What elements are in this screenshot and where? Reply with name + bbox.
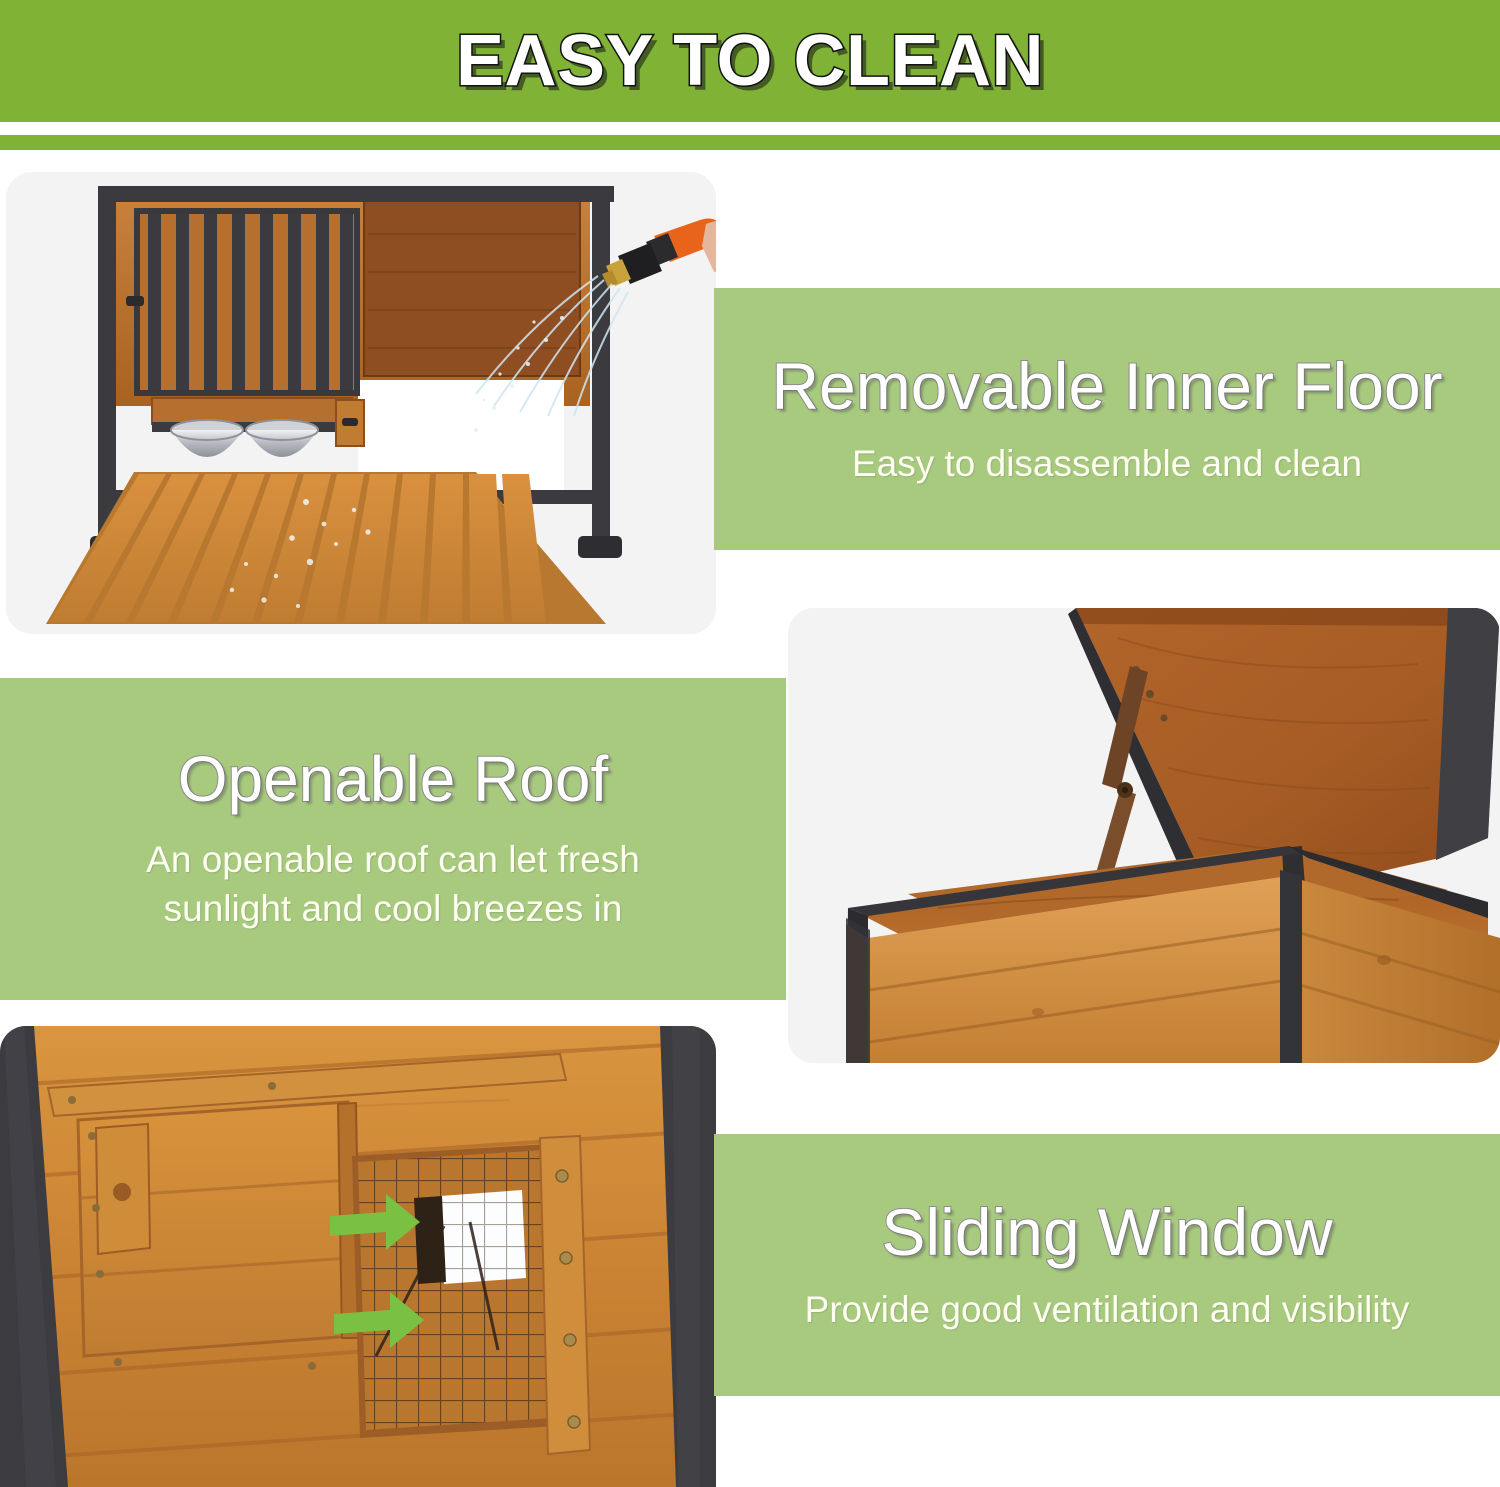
feature-photo-openable-roof: [788, 608, 1500, 1063]
product-feature-infographic: EASY TO CLEAN: [0, 0, 1500, 1487]
feature-panel-sliding-window: Sliding Window Provide good ventilation …: [714, 1134, 1500, 1396]
header-banner: EASY TO CLEAN: [0, 0, 1500, 122]
feature-subtitle-removable-inner-floor: Easy to disassemble and clean: [852, 440, 1362, 489]
removable-floor-illustration: [6, 172, 716, 634]
feature-heading-sliding-window: Sliding Window: [881, 1196, 1332, 1270]
feature-heading-openable-roof: Openable Roof: [178, 744, 609, 816]
sliding-shutter-panel: [78, 1102, 360, 1356]
sliding-window-illustration: [0, 1026, 716, 1487]
feature-photo-sliding-window: [0, 1026, 716, 1487]
feature-panel-openable-roof: Openable Roof An openable roof can let f…: [0, 678, 786, 1000]
page-title: EASY TO CLEAN: [456, 25, 1044, 97]
feature-subtitle-openable-roof: An openable roof can let fresh sunlight …: [146, 836, 640, 934]
header-accent-stripe: [0, 135, 1500, 150]
feature-subtitle-sliding-window: Provide good ventilation and visibility: [805, 1286, 1410, 1335]
window-opening: [352, 1144, 558, 1438]
feature-subtitle-line-2: sunlight and cool breezes in: [146, 885, 640, 934]
feature-photo-removable-inner-floor: [6, 172, 716, 634]
feature-heading-removable-inner-floor: Removable Inner Floor: [771, 350, 1442, 424]
removable-floor-panel: [46, 472, 606, 624]
feature-subtitle-line-1: An openable roof can let fresh: [146, 836, 640, 885]
header-white-gap: [0, 122, 1500, 135]
feature-panel-removable-inner-floor: Removable Inner Floor Easy to disassembl…: [714, 288, 1500, 550]
openable-roof-illustration: [788, 608, 1500, 1063]
